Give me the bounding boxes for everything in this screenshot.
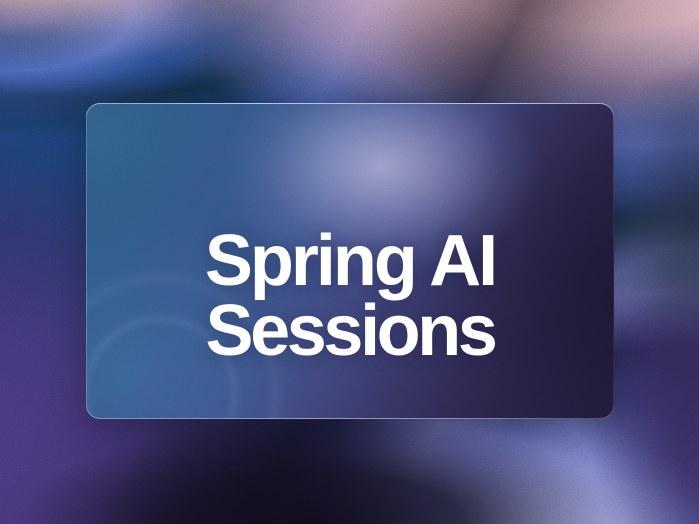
page-title: Spring AI Sessions [86, 227, 614, 367]
headline-line-1: Spring AI [86, 227, 614, 297]
poster-canvas: Spring AI Sessions [0, 0, 699, 524]
glass-card: Spring AI Sessions [86, 103, 614, 419]
headline-line-2: Sessions [86, 297, 614, 367]
